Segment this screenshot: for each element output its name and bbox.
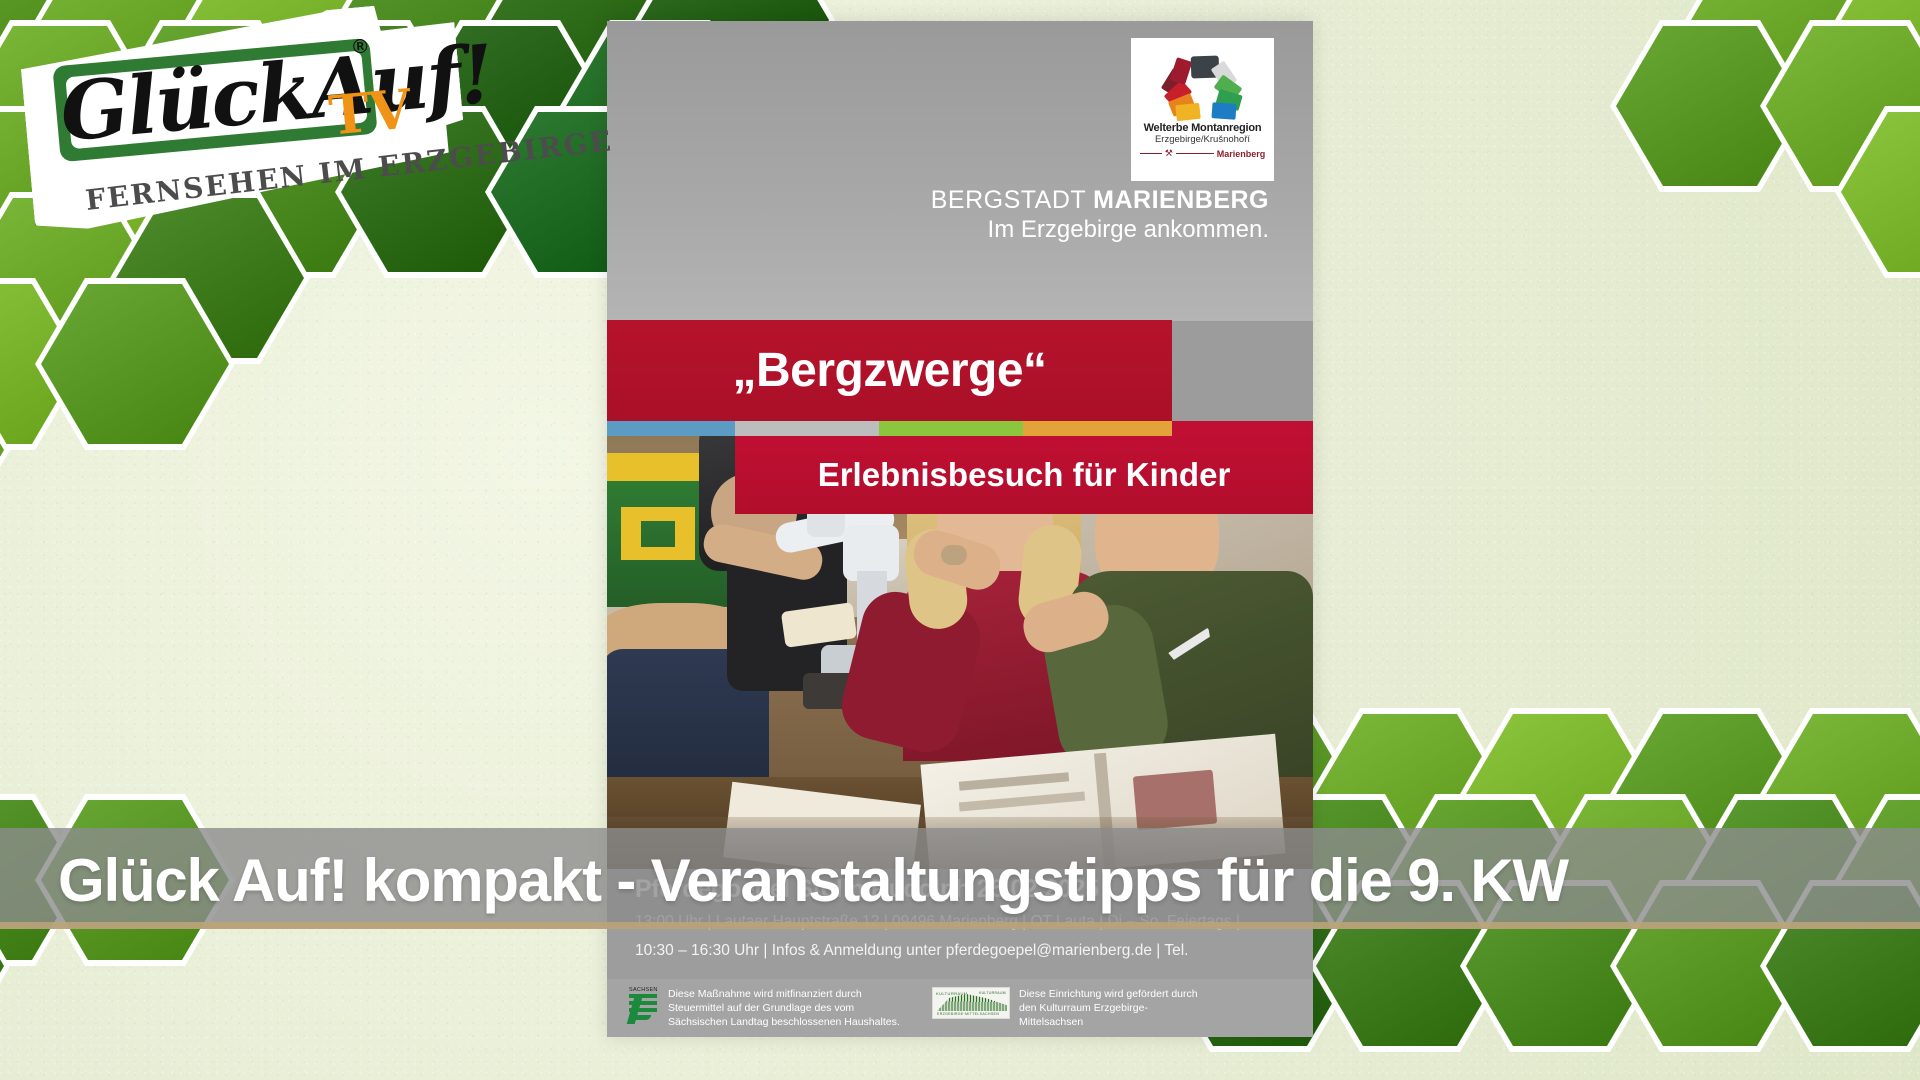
funding-block-kulturraum: KULTURRAUM KULTURRAUM ERZGEBIRGE·MITTELS… [932,987,1209,1030]
poster-subtitle-bar: Erlebnisbesuch für Kinder [735,436,1313,514]
crossed-hammers-icon: ⚒ [1165,148,1173,159]
funding-block-sachsen: SACHSEN Diese Maßnahme wird mitfinanzier… [629,987,916,1030]
poster-subtitle-text: Erlebnisbesuch für Kinder [818,456,1231,494]
unesco-region-label: Marienberg [1217,149,1266,159]
poster-title-bar: „Bergzwerge“ [607,320,1172,421]
poster-tagline: Im Erzgebirge ankommen. [931,216,1269,244]
unesco-rule-right [1176,153,1214,155]
unesco-fan-icon [1160,54,1246,116]
sachsen-coat-of-arms-icon: SACHSEN [629,987,659,1025]
kulturraum-text: Diese Einrichtung wird gefördert durch d… [1019,987,1209,1030]
banner-title: Glück Auf! kompakt - Veranstaltungstipps… [58,846,1568,915]
unesco-welterbe-logo: Welterbe Montanregion Erzgebirge/Krušnoh… [1131,38,1274,181]
funding-text: Diese Maßnahme wird mitfinanziert durch … [668,987,916,1030]
logo-tv-text: TV [326,76,414,147]
poster-event-detail-2: 10:30 – 16:30 Uhr | Infos & Anmeldung un… [635,939,1285,962]
poster-footer: SACHSEN Diese Maßnahme wird mitfinanzier… [607,979,1313,1037]
unesco-rule-left [1140,153,1162,155]
unesco-region-bar: ⚒ Marienberg [1140,148,1266,159]
lower-third-banner: Glück Auf! kompakt - Veranstaltungstipps… [0,828,1920,929]
registered-trademark-icon: ® [352,35,369,59]
unesco-subtitle: Erzgebirge/Krušnohoří [1155,134,1250,145]
poster-title-text: „Bergzwerge“ [732,343,1046,398]
poster-city-line: BERGSTADT MARIENBERG [931,186,1269,216]
poster-city-name: MARIENBERG [1093,186,1269,214]
banner-accent-line [0,922,1920,929]
unesco-title: Welterbe Montanregion [1144,122,1262,134]
poster-city-prefix: BERGSTADT [931,186,1093,214]
glueckauf-tv-logo: GlückAuf! TV ® FERNSEHEN IM ERZGEBIRGE [26,18,462,214]
poster-color-stripe [607,421,1313,436]
sachsen-label: SACHSEN [629,987,659,993]
poster-header-text: BERGSTADT MARIENBERG Im Erzgebirge ankom… [931,186,1269,244]
kulturraum-logo-icon: KULTURRAUM KULTURRAUM ERZGEBIRGE·MITTELS… [932,987,1010,1019]
